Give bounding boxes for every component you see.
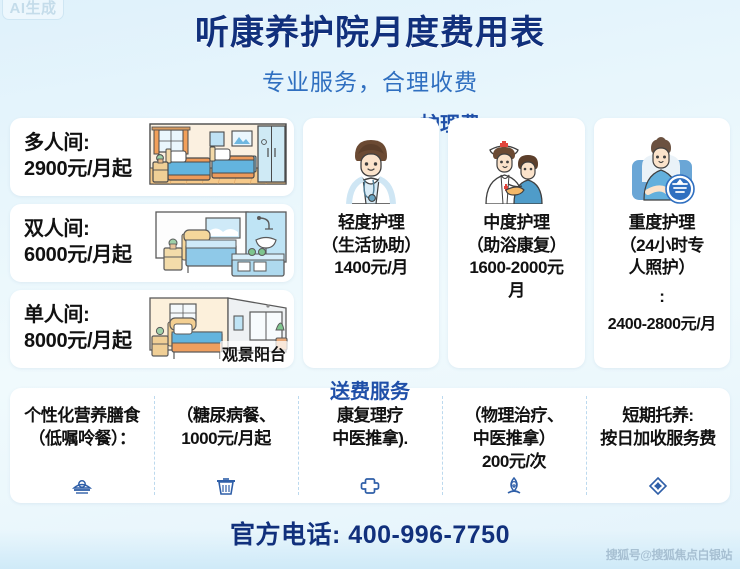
room-card-double[interactable]: 双人间: 6000元/月起	[10, 204, 294, 282]
nursing-detail-2: 人照护）	[608, 257, 716, 280]
nursing-price: 2400-2800元/月	[608, 314, 716, 335]
balcony-caption: 观景阳台	[220, 341, 288, 365]
service-line-1: 康复理疗	[332, 404, 407, 427]
service-column-rehab[interactable]: 康复理疗 中医推拿).	[298, 388, 442, 503]
nursing-price: 1600-2000元	[467, 257, 567, 280]
doctor-icon	[333, 134, 409, 204]
room-name: 单人间:	[24, 303, 132, 329]
nursing-detail: （助浴康复）	[467, 235, 567, 258]
service-line-1: （物理治疗、	[465, 404, 564, 427]
service-line-2: 1000元/月起	[177, 427, 276, 450]
nursing-level: 中度护理	[467, 212, 567, 235]
room-price: 8000元/月起	[24, 329, 132, 355]
diamond-star-icon	[647, 475, 669, 497]
double-room-illustration	[128, 204, 294, 282]
medical-cross-icon	[359, 475, 381, 497]
nursing-card-heavy[interactable]: 重度护理 （24小时专 人照护） : 2400-2800元/月	[594, 118, 730, 368]
nursing-detail: （生活协助）	[321, 235, 421, 258]
nursing-level: 轻度护理	[321, 212, 421, 235]
service-line-2: 中医推拿）	[465, 427, 564, 450]
service-line-2: 按日加收服务费	[600, 427, 716, 450]
service-line-1: （糖尿病餐、	[177, 404, 276, 427]
service-line-3: 200元/次	[465, 450, 564, 473]
main-board: 多人间: 2900元/月起	[0, 118, 740, 368]
room-name: 双人间:	[24, 217, 132, 243]
ai-generated-badge: AI生成	[2, 0, 64, 20]
service-column-shortterm[interactable]: 短期托养: 按日加收服务费	[586, 388, 730, 503]
service-line-2: 中医推拿).	[332, 427, 407, 450]
multi-bed-room-illustration	[128, 118, 294, 196]
service-column-nutrition[interactable]: 个性化营养膳食 （低嘱呤餐）：	[10, 388, 154, 503]
nursing-level: 重度护理	[608, 212, 716, 235]
service-column-physio[interactable]: （物理治疗、 中医推拿） 200元/次	[442, 388, 586, 503]
page-title: 听康养护院月度费用表	[0, 0, 740, 53]
room-price: 6000元/月起	[24, 243, 132, 269]
meal-bowl-icon	[71, 475, 93, 497]
room-card-single[interactable]: 单人间: 8000元/月起	[10, 290, 294, 368]
leaf-icon	[503, 475, 525, 497]
service-column-diabetic[interactable]: （糖尿病餐、 1000元/月起	[154, 388, 298, 503]
room-price: 2900元/月起	[24, 157, 132, 183]
service-line-2: （低嘱呤餐）：	[24, 427, 140, 450]
page-subtitle: 专业服务，合理收费	[0, 53, 740, 97]
basket-icon	[215, 475, 237, 497]
nursing-colon: :	[608, 280, 716, 315]
service-section-heading: 送费服务	[0, 375, 740, 404]
nursing-card-medium[interactable]: 中度护理 （助浴康复） 1600-2000元 月	[448, 118, 584, 368]
room-cards-group: 多人间: 2900元/月起	[10, 118, 294, 368]
nursing-cards-group: 轻度护理 （生活协助） 1400元/月	[303, 118, 730, 368]
nursing-price-unit: 月	[467, 280, 567, 303]
service-line-1: 短期托养:	[600, 404, 716, 427]
service-line-1: 个性化营养膳食	[24, 404, 140, 427]
nursing-card-light[interactable]: 轻度护理 （生活协助） 1400元/月	[303, 118, 439, 368]
nursing-price: 1400元/月	[321, 257, 421, 280]
nurse-with-patient-icon	[478, 134, 554, 204]
room-name: 多人间:	[24, 131, 132, 157]
nursing-detail: （24小时专	[608, 235, 716, 258]
watermark: 搜狐号@搜狐焦点白银站	[606, 546, 732, 563]
bedridden-care-icon	[624, 134, 700, 204]
room-card-multi[interactable]: 多人间: 2900元/月起	[10, 118, 294, 196]
service-card: 个性化营养膳食 （低嘱呤餐）： （糖尿病餐、 1000元/月起 康复理疗 中医推…	[10, 388, 730, 503]
